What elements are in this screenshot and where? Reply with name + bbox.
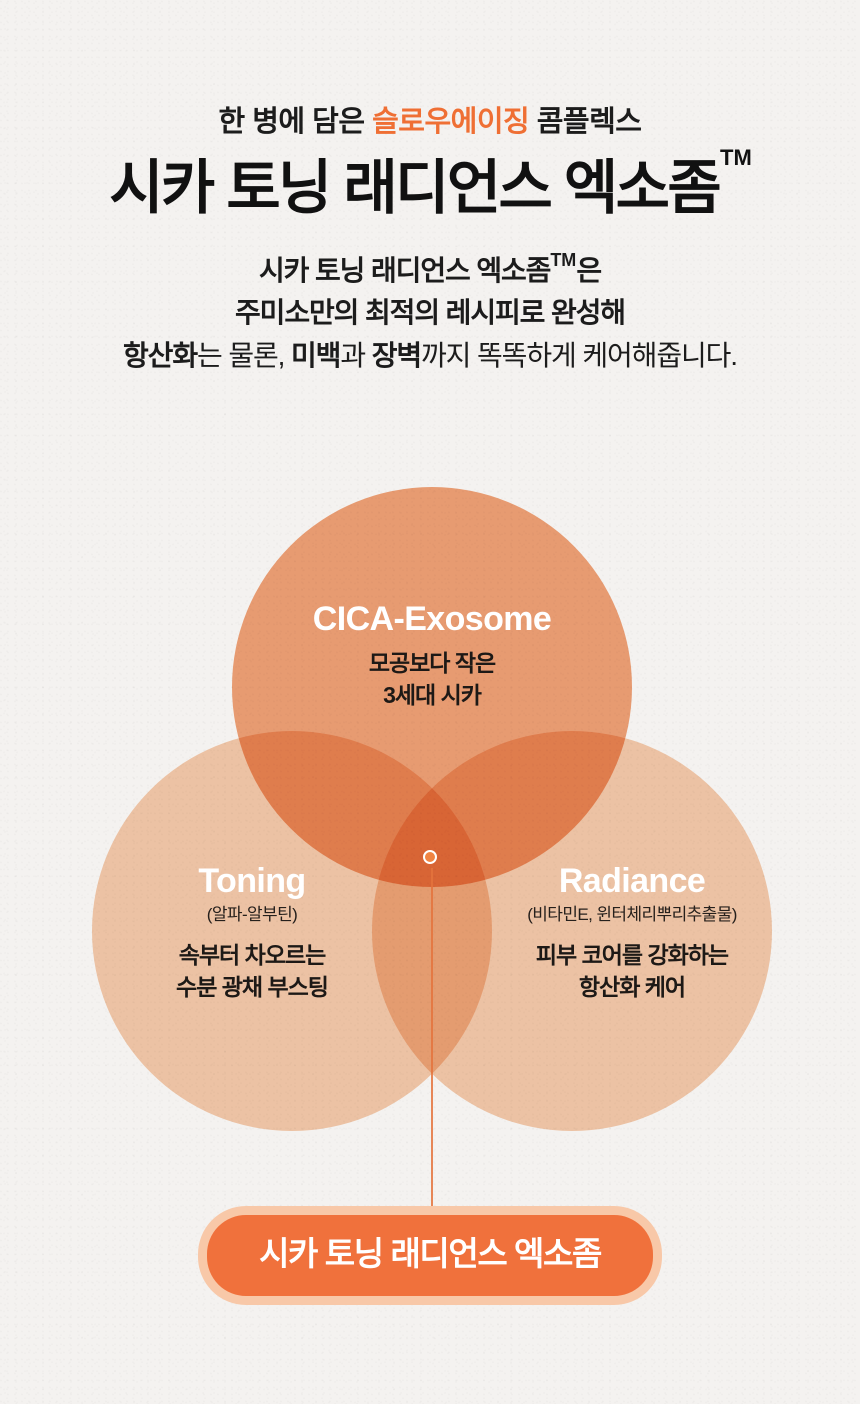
page-title: 시카 토닝 래디언스 엑소좀TM <box>109 158 751 220</box>
lede-line-3-b: 는 물론, <box>197 340 291 371</box>
lobe-title-cica-exosome: CICA-Exosome <box>222 600 642 638</box>
lede-trademark-mark: TM <box>550 250 576 270</box>
lobe-body-line-2: 수분 광채 부스팅 <box>42 972 462 1004</box>
venn-label-toning: Toning (알파-알부틴) 속부터 차오르는 수분 광채 부스팅 <box>42 862 462 1004</box>
lobe-body-radiance: 피부 코어를 강화하는 항산화 케어 <box>422 940 842 1003</box>
venn-circle-radiance <box>372 731 772 1131</box>
lobe-ingredient-radiance: (비타민E, 윈터체리뿌리추출물) <box>422 904 842 926</box>
product-name-pill[interactable]: 시카 토닝 래디언스 엑소좀 <box>198 1206 662 1305</box>
intersection-node-icon <box>423 850 437 864</box>
eyebrow-prefix: 한 병에 담은 <box>219 106 373 138</box>
lede-line-3-f: 까지 똑똑하게 케어해줍니다. <box>421 340 737 371</box>
page-root: 한 병에 담은 슬로우에이징 콤플렉스 시카 토닝 래디언스 엑소좀TM 시카 … <box>0 0 860 1404</box>
lede-keyword-antioxidant: 항산화 <box>123 340 197 371</box>
lobe-title-toning: Toning <box>42 862 462 900</box>
lobe-title-radiance: Radiance <box>422 862 842 900</box>
venn-circle-cica-exosome <box>232 487 632 887</box>
lobe-body-line-2: 항산화 케어 <box>422 972 842 1004</box>
lede-line-1: 시카 토닝 래디언스 엑소좀TM은 <box>0 250 860 293</box>
lede-line-1-particle: 은 <box>576 255 601 286</box>
lede-line-2: 주미소만의 최적의 레시피로 완성해 <box>0 292 860 335</box>
lobe-body-line-2: 3세대 시카 <box>222 680 642 712</box>
lede-paragraph: 시카 토닝 래디언스 엑소좀TM은 주미소만의 최적의 레시피로 완성해 항산화… <box>0 250 860 378</box>
venn-label-cica-exosome: CICA-Exosome 모공보다 작은 3세대 시카 <box>222 600 642 712</box>
venn-label-radiance: Radiance (비타민E, 윈터체리뿌리추출물) 피부 코어를 강화하는 항… <box>422 862 842 1004</box>
trademark-mark: TM <box>720 145 752 170</box>
lobe-body-line-1: 피부 코어를 강화하는 <box>422 940 842 972</box>
venn-circle-toning <box>92 731 492 1131</box>
lede-line-3-d: 과 <box>340 340 371 371</box>
lede-line-3: 항산화는 물론, 미백과 장벽까지 똑똑하게 케어해줍니다. <box>0 335 860 378</box>
lobe-body-line-1: 속부터 차오르는 <box>42 940 462 972</box>
connector-line <box>431 868 433 1208</box>
lobe-body-cica-exosome: 모공보다 작은 3세대 시카 <box>222 648 642 711</box>
lobe-body-toning: 속부터 차오르는 수분 광채 부스팅 <box>42 940 462 1003</box>
hero-title-text: 시카 토닝 래디언스 엑소좀 <box>109 155 719 221</box>
eyebrow-accent-term: 슬로우에이징 <box>372 106 529 138</box>
lede-keyword-brightening: 미백 <box>291 340 340 371</box>
lobe-ingredient-toning: (알파-알부틴) <box>42 904 462 926</box>
footer-block: 시카 토닝 래디언스 엑소좀 <box>0 1206 860 1305</box>
lede-keyword-barrier: 장벽 <box>372 340 421 371</box>
lede-line-1-product: 시카 토닝 래디언스 엑소좀 <box>259 255 550 286</box>
eyebrow-suffix: 콤플렉스 <box>529 106 641 138</box>
header-block: 한 병에 담은 슬로우에이징 콤플렉스 시카 토닝 래디언스 엑소좀TM 시카 … <box>0 0 860 377</box>
eyebrow-tagline: 한 병에 담은 슬로우에이징 콤플렉스 <box>0 105 860 140</box>
lobe-body-line-1: 모공보다 작은 <box>222 648 642 680</box>
